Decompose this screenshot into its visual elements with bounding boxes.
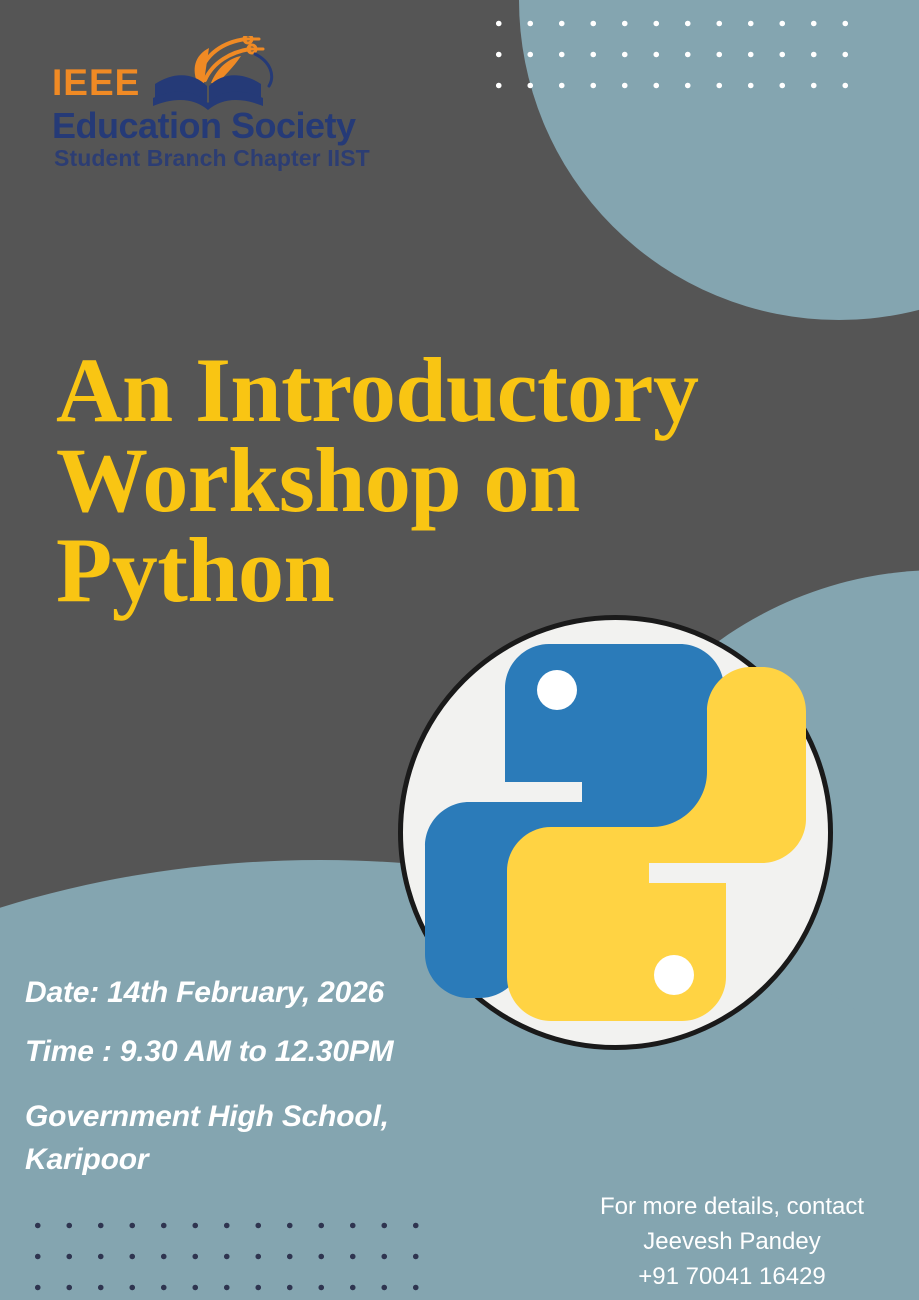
- ieee-wordmark: IEEE: [52, 64, 140, 101]
- title-line-3: Python: [56, 525, 756, 615]
- dot-grid-navy-icon: [22, 1210, 422, 1300]
- title-line-1: An Introductory: [56, 345, 756, 435]
- event-venue-line-1: Government High School,: [25, 1096, 525, 1139]
- event-date: Date: 14th February, 2026: [25, 978, 525, 1008]
- dot-grid-white-icon: [483, 8, 873, 112]
- contact-name: Jeevesh Pandey: [567, 1225, 897, 1260]
- event-details: Date: 14th February, 2026 Time : 9.30 AM…: [25, 978, 525, 1181]
- title-line-2: Workshop on: [56, 435, 756, 525]
- poster-canvas: IEEE Education Society Student Branch Ch…: [0, 0, 919, 1300]
- event-venue-line-2: Karipoor: [25, 1139, 525, 1182]
- ieee-society-name: Education Society: [52, 106, 356, 146]
- open-book-circuit-icon: [147, 36, 287, 111]
- contact-intro: For more details, contact: [567, 1190, 897, 1225]
- page-title: An Introductory Workshop on Python: [56, 345, 756, 615]
- contact-block: For more details, contact Jeevesh Pandey…: [567, 1190, 897, 1294]
- contact-phone: +91 70041 16429: [567, 1260, 897, 1295]
- ieee-chapter-name: Student Branch Chapter IIST: [54, 146, 370, 171]
- event-time: Time : 9.30 AM to 12.30PM: [25, 1037, 525, 1067]
- ieee-education-society-logo: IEEE Education Society Student Branch Ch…: [52, 36, 472, 181]
